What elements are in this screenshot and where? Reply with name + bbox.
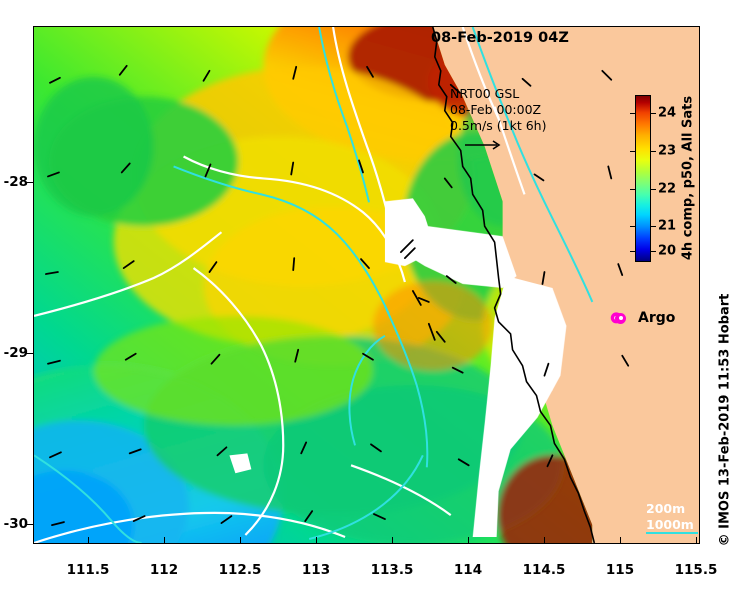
bathymetry-legend: 200m 1000m [646,501,694,533]
map-plot-area[interactable]: 08-Feb-2019 04Z NRT00 GSL 08-Feb 00:00Z … [33,26,700,544]
vector-source-label: NRT00 GSL [450,86,546,102]
x-tick [164,537,165,544]
y-tick-label: -28 [4,174,28,190]
vector-time-label: 08-Feb 00:00Z [450,102,546,118]
colorbar-tick [630,151,635,152]
y-tick-label: -29 [4,345,28,361]
argo-legend-label: Argo [638,310,675,326]
x-tick [316,537,317,544]
colorbar-tick [651,151,656,152]
x-tick-label: 112 [150,562,178,578]
x-tick [544,537,545,544]
colorbar-tick [630,189,635,190]
sst-colorbar[interactable] [635,95,651,262]
colorbar-title: 4h comp, p50, All Sats [681,96,696,260]
argo-legend: Argo [615,310,675,326]
x-tick [88,537,89,544]
x-tick-label: 112.5 [219,562,262,578]
colorbar-tick [630,251,635,252]
x-tick-label: 111.5 [67,562,110,578]
colorbar-label: 23 [658,144,676,159]
x-tick-label: 115 [606,562,634,578]
vector-scale-label: 0.5m/s (1kt 6h) [450,118,546,134]
colorbar-label: 21 [658,219,676,234]
sst-map-figure: 08-Feb-2019 04Z NRT00 GSL 08-Feb 00:00Z … [0,0,739,592]
y-tick-label: -30 [4,516,28,532]
x-tick-label: 114.5 [523,562,566,578]
sst-raster [34,27,699,543]
right-arrow-icon [463,139,503,151]
x-tick [468,537,469,544]
x-tick-label: 115.5 [675,562,718,578]
bathy-200m-label: 200m [646,501,694,517]
imos-credit: © IMOS 13-Feb-2019 11:53 Hobart [718,294,733,547]
x-tick [696,537,697,544]
colorbar-tick [630,113,635,114]
x-tick-label: 113 [302,562,330,578]
colorbar-label: 22 [658,182,676,197]
colorbar-tick [651,189,656,190]
colorbar-tick [651,251,656,252]
colorbar-label: 24 [658,106,676,121]
bathy-1000m-line-swatch [646,532,698,534]
bathy-1000m-label: 1000m [646,517,694,533]
current-vector-annotation: NRT00 GSL 08-Feb 00:00Z 0.5m/s (1kt 6h) [450,86,546,134]
colorbar-tick [651,226,656,227]
x-tick [620,537,621,544]
x-tick-label: 114 [454,562,482,578]
x-tick [240,537,241,544]
colorbar-label: 20 [658,244,676,259]
argo-marker-icon [615,313,626,324]
x-tick [392,537,393,544]
x-tick-label: 113.5 [371,562,414,578]
map-date-title: 08-Feb-2019 04Z [431,30,569,46]
colorbar-tick [651,113,656,114]
colorbar-tick [630,226,635,227]
